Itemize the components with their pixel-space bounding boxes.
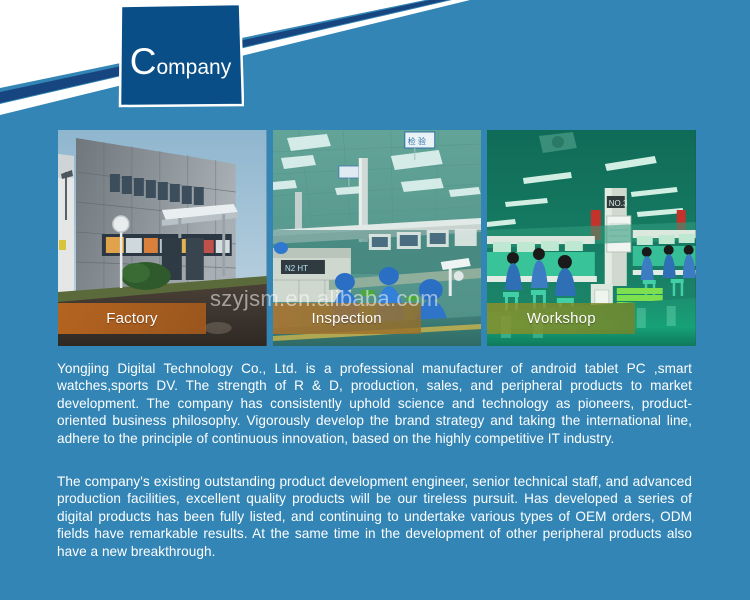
inspection-caption-label: Inspection — [273, 303, 421, 334]
photo-panel-row: Factory — [58, 130, 696, 346]
panel-workshop[interactable]: NO.3 — [487, 130, 696, 346]
header-diagonal-graphic — [0, 0, 750, 130]
svg-text:检 验: 检 验 — [407, 136, 425, 146]
svg-text:NO.3: NO.3 — [609, 199, 628, 208]
company-logo-plaque: Company — [117, 3, 244, 108]
company-description: Yongjing Digital Technology Co., Ltd. is… — [57, 360, 692, 560]
logo-plaque-shape — [117, 3, 244, 108]
header-banner: Company — [0, 0, 750, 130]
description-paragraph-1: Yongjing Digital Technology Co., Ltd. is… — [57, 360, 692, 447]
company-profile-banner: Company — [0, 0, 750, 600]
factory-caption-label: Factory — [58, 303, 206, 334]
panel-factory[interactable]: Factory — [58, 130, 267, 346]
description-paragraph-2: The company's existing outstanding produ… — [57, 473, 692, 560]
workshop-caption-label: Workshop — [487, 303, 635, 334]
svg-text:N2 HT: N2 HT — [285, 264, 308, 273]
logo-quad-shape — [120, 4, 243, 106]
panel-inspection[interactable]: 检 验 — [273, 130, 482, 346]
